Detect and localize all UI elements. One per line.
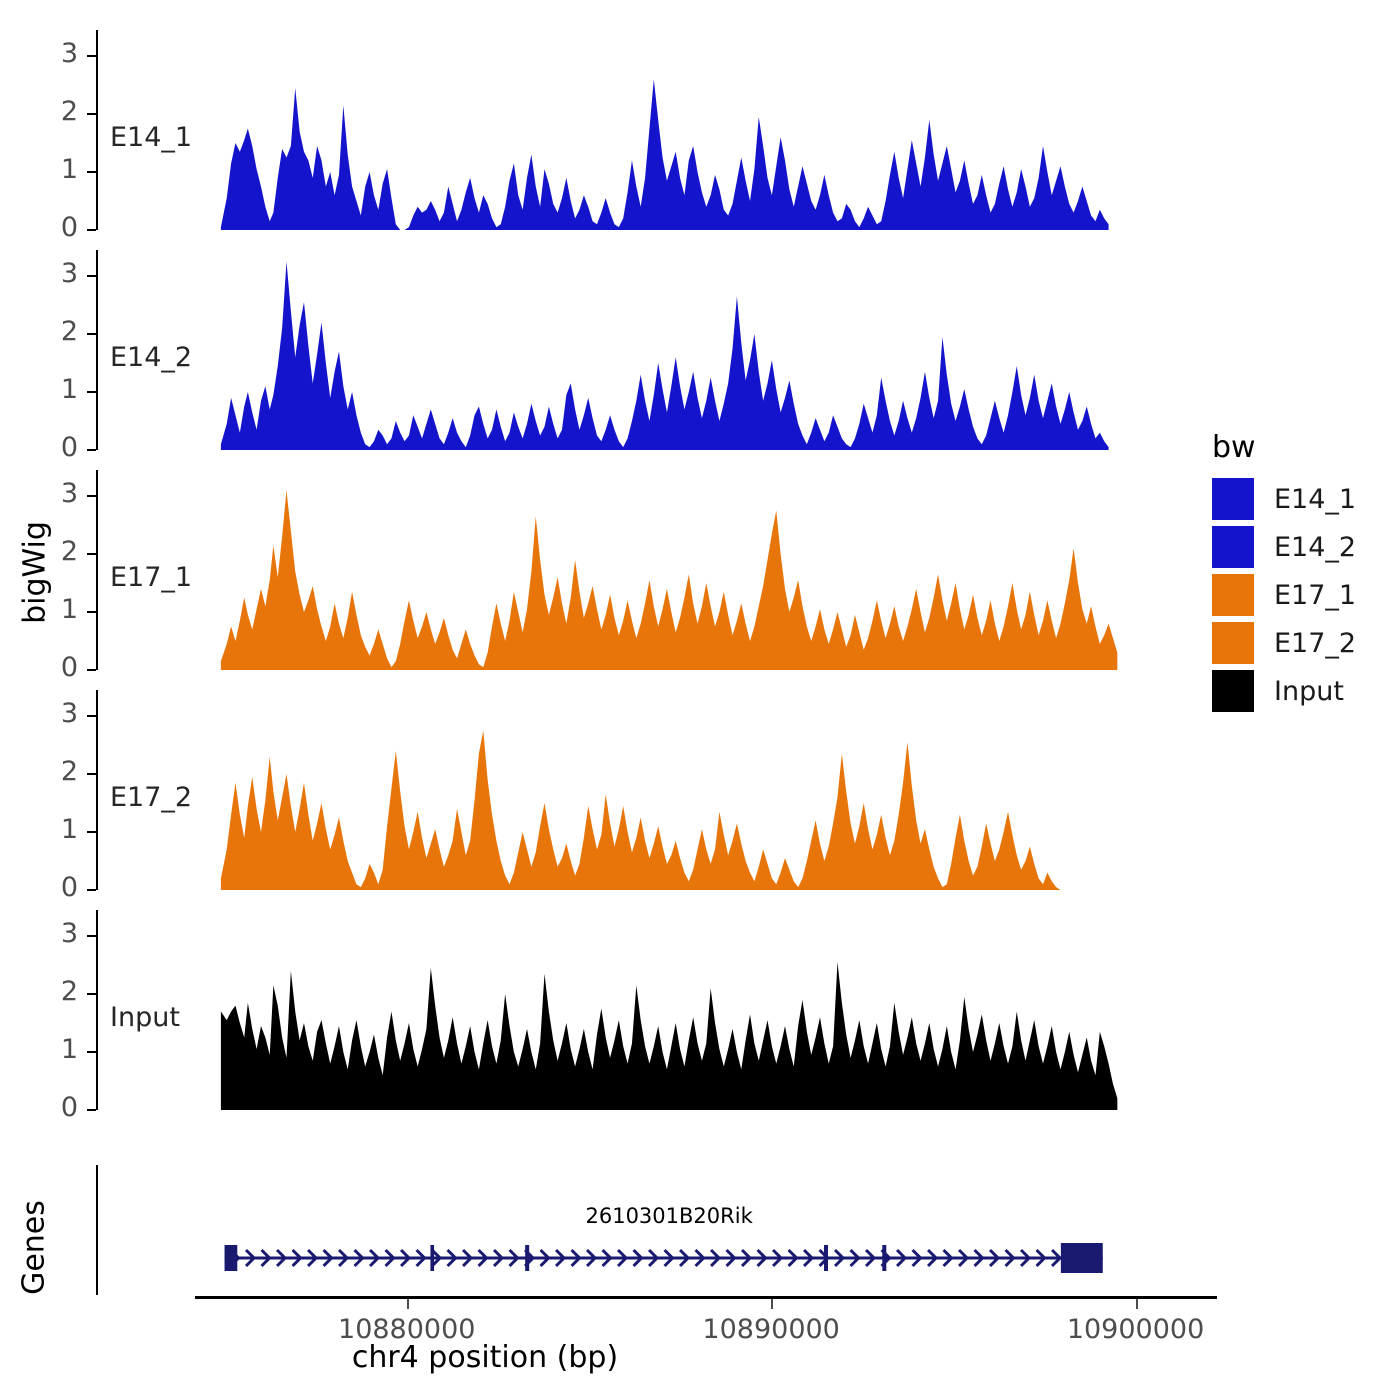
legend-swatch-e17_2 [1212,622,1254,664]
genes-panel: 2610301B20Rik [0,1160,1400,1300]
track-panel-e17_2: 0123E17_2 [0,690,1400,890]
track-fill [221,731,1082,890]
track-fill [221,490,1117,670]
legend-label-input: Input [1274,676,1344,707]
legend-swatch-e14_2 [1212,526,1254,568]
legend-item-e14_2[interactable]: E14_2 [1212,526,1356,568]
legend-item-e17_2[interactable]: E17_2 [1212,622,1356,664]
legend-swatch-input [1212,670,1254,712]
track-fill [221,262,1109,450]
gene-exon [824,1245,828,1271]
track-area-e17_1 [0,470,1400,670]
gene-model-track: 2610301B20Rik [0,1160,1400,1300]
legend-swatch-e17_1 [1212,574,1254,616]
track-panel-e14_2: 0123E14_2 [0,250,1400,450]
track-fill [221,962,1117,1110]
legend-label-e17_2: E17_2 [1274,628,1356,659]
gene-exon [1061,1243,1103,1273]
legend-title: bw [1212,430,1256,465]
x-tick-mark [771,1299,773,1309]
gene-exon [225,1245,238,1271]
gene-exon [525,1245,529,1271]
track-fill [221,79,1109,230]
x-axis-line [195,1296,1217,1299]
track-panel-input: 0123Input [0,910,1400,1110]
track-area-input [0,910,1400,1110]
legend-swatch-e14_1 [1212,478,1254,520]
track-area-e17_2 [0,690,1400,890]
legend-label-e17_1: E17_1 [1274,580,1356,611]
gene-exon [882,1245,886,1271]
x-tick-mark [1136,1299,1138,1309]
x-axis-title: chr4 position (bp) [0,1340,1185,1375]
track-panel-e17_1: 0123E17_1 [0,470,1400,670]
gene-exon [430,1245,434,1271]
track-area-e14_2 [0,250,1400,450]
legend-item-e17_1[interactable]: E17_1 [1212,574,1356,616]
legend: bw E14_1E14_2E17_1E17_2Input [1212,430,1400,700]
x-tick-mark [407,1299,409,1309]
legend-label-e14_2: E14_2 [1274,532,1356,563]
legend-item-input[interactable]: Input [1212,670,1344,712]
legend-label-e14_1: E14_1 [1274,484,1356,515]
track-panel-e14_1: 0123E14_1 [0,30,1400,230]
track-area-e14_1 [0,30,1400,230]
gene-svg [0,1160,1400,1300]
legend-item-e14_1[interactable]: E14_1 [1212,478,1356,520]
gene-name-label: 2610301B20Rik [585,1204,752,1228]
